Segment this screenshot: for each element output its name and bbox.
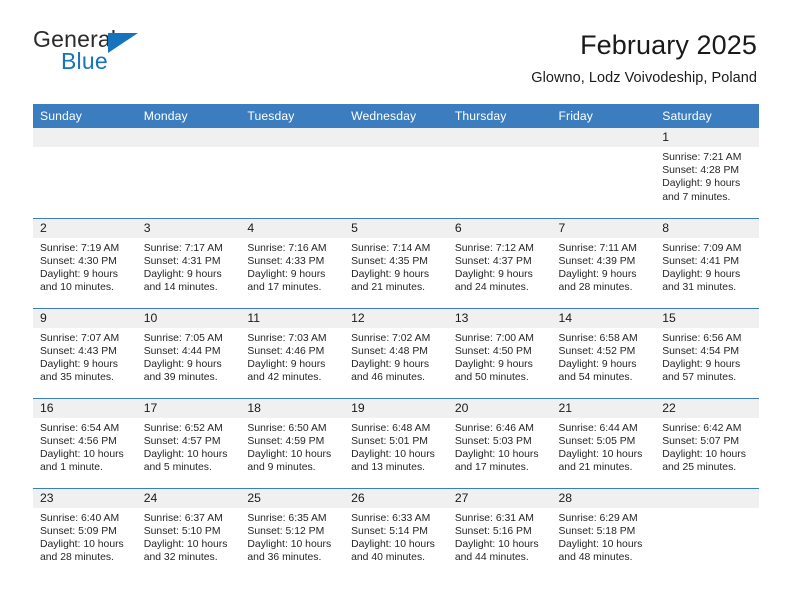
daylight-text-line2: and 46 minutes. <box>351 371 442 384</box>
day-details: Sunrise: 6:33 AM Sunset: 5:14 PM Dayligh… <box>344 508 448 565</box>
sunset-text: Sunset: 4:57 PM <box>144 435 235 448</box>
daylight-text-line1: Daylight: 10 hours <box>351 538 442 551</box>
daylight-text-line1: Daylight: 10 hours <box>662 448 753 461</box>
day-number <box>33 128 137 147</box>
sunrise-text: Sunrise: 6:54 AM <box>40 422 131 435</box>
day-cell[interactable]: 2 Sunrise: 7:19 AM Sunset: 4:30 PM Dayli… <box>33 218 137 308</box>
page-header: General Blue February 2025 Glowno, Lodz … <box>0 0 792 86</box>
day-number: 15 <box>655 309 759 328</box>
sunset-text: Sunset: 4:59 PM <box>247 435 338 448</box>
day-cell <box>33 128 137 218</box>
sunset-text: Sunset: 5:07 PM <box>662 435 753 448</box>
day-details: Sunrise: 6:56 AM Sunset: 4:54 PM Dayligh… <box>655 328 759 385</box>
sunset-text: Sunset: 5:18 PM <box>559 525 650 538</box>
daylight-text-line2: and 17 minutes. <box>455 461 546 474</box>
day-number <box>552 128 656 147</box>
daylight-text-line1: Daylight: 9 hours <box>559 358 650 371</box>
sunrise-text: Sunrise: 7:21 AM <box>662 151 753 164</box>
daylight-text-line2: and 7 minutes. <box>662 191 753 204</box>
day-cell[interactable]: 25 Sunrise: 6:35 AM Sunset: 5:12 PM Dayl… <box>240 488 344 578</box>
day-details: Sunrise: 6:54 AM Sunset: 4:56 PM Dayligh… <box>33 418 137 475</box>
weekday-header-wednesday: Wednesday <box>344 104 448 128</box>
daylight-text-line1: Daylight: 9 hours <box>351 358 442 371</box>
day-cell <box>240 128 344 218</box>
daylight-text-line1: Daylight: 9 hours <box>662 358 753 371</box>
sunrise-text: Sunrise: 7:12 AM <box>455 242 546 255</box>
day-details: Sunrise: 7:00 AM Sunset: 4:50 PM Dayligh… <box>448 328 552 385</box>
day-cell[interactable]: 18 Sunrise: 6:50 AM Sunset: 4:59 PM Dayl… <box>240 398 344 488</box>
sunset-text: Sunset: 4:43 PM <box>40 345 131 358</box>
day-cell[interactable]: 19 Sunrise: 6:48 AM Sunset: 5:01 PM Dayl… <box>344 398 448 488</box>
day-number: 8 <box>655 219 759 238</box>
day-number: 7 <box>552 219 656 238</box>
sunset-text: Sunset: 5:05 PM <box>559 435 650 448</box>
day-cell[interactable]: 3 Sunrise: 7:17 AM Sunset: 4:31 PM Dayli… <box>137 218 241 308</box>
day-cell <box>655 488 759 578</box>
calendar-week-row: 16 Sunrise: 6:54 AM Sunset: 4:56 PM Dayl… <box>33 398 759 488</box>
day-number: 17 <box>137 399 241 418</box>
day-cell[interactable]: 12 Sunrise: 7:02 AM Sunset: 4:48 PM Dayl… <box>344 308 448 398</box>
day-cell <box>552 128 656 218</box>
daylight-text-line2: and 21 minutes. <box>351 281 442 294</box>
sunset-text: Sunset: 4:33 PM <box>247 255 338 268</box>
sunset-text: Sunset: 4:54 PM <box>662 345 753 358</box>
sunrise-text: Sunrise: 6:50 AM <box>247 422 338 435</box>
sunset-text: Sunset: 5:01 PM <box>351 435 442 448</box>
sunrise-text: Sunrise: 6:31 AM <box>455 512 546 525</box>
day-details: Sunrise: 7:21 AM Sunset: 4:28 PM Dayligh… <box>655 147 759 204</box>
day-details: Sunrise: 6:50 AM Sunset: 4:59 PM Dayligh… <box>240 418 344 475</box>
daylight-text-line1: Daylight: 9 hours <box>662 268 753 281</box>
weekday-header-thursday: Thursday <box>448 104 552 128</box>
daylight-text-line2: and 10 minutes. <box>40 281 131 294</box>
daylight-text-line1: Daylight: 9 hours <box>455 268 546 281</box>
calendar-header-row: Sunday Monday Tuesday Wednesday Thursday… <box>33 104 759 128</box>
daylight-text-line2: and 5 minutes. <box>144 461 235 474</box>
sunset-text: Sunset: 5:09 PM <box>40 525 131 538</box>
sunset-text: Sunset: 4:35 PM <box>351 255 442 268</box>
day-details: Sunrise: 6:58 AM Sunset: 4:52 PM Dayligh… <box>552 328 656 385</box>
day-number: 24 <box>137 489 241 508</box>
sunrise-text: Sunrise: 7:02 AM <box>351 332 442 345</box>
logo-text-blue: Blue <box>61 50 108 73</box>
day-number: 2 <box>33 219 137 238</box>
day-number <box>655 489 759 508</box>
sunrise-text: Sunrise: 7:16 AM <box>247 242 338 255</box>
sunset-text: Sunset: 5:14 PM <box>351 525 442 538</box>
day-number: 1 <box>655 128 759 147</box>
daylight-text-line1: Daylight: 10 hours <box>247 538 338 551</box>
sunset-text: Sunset: 4:37 PM <box>455 255 546 268</box>
day-cell[interactable]: 9 Sunrise: 7:07 AM Sunset: 4:43 PM Dayli… <box>33 308 137 398</box>
brand-triangle-icon <box>108 33 138 53</box>
day-details: Sunrise: 7:02 AM Sunset: 4:48 PM Dayligh… <box>344 328 448 385</box>
daylight-text-line2: and 28 minutes. <box>40 551 131 564</box>
daylight-text-line1: Daylight: 10 hours <box>559 538 650 551</box>
calendar-week-row: 9 Sunrise: 7:07 AM Sunset: 4:43 PM Dayli… <box>33 308 759 398</box>
daylight-text-line1: Daylight: 9 hours <box>455 358 546 371</box>
sunset-text: Sunset: 4:46 PM <box>247 345 338 358</box>
day-cell <box>344 128 448 218</box>
day-number: 14 <box>552 309 656 328</box>
day-number: 25 <box>240 489 344 508</box>
general-blue-logo[interactable]: General Blue <box>33 28 153 80</box>
title-block: February 2025 Glowno, Lodz Voivodeship, … <box>531 28 757 86</box>
day-number <box>240 128 344 147</box>
sunrise-text: Sunrise: 6:48 AM <box>351 422 442 435</box>
daylight-text-line2: and 57 minutes. <box>662 371 753 384</box>
day-cell[interactable]: 6 Sunrise: 7:12 AM Sunset: 4:37 PM Dayli… <box>448 218 552 308</box>
day-details: Sunrise: 6:29 AM Sunset: 5:18 PM Dayligh… <box>552 508 656 565</box>
day-cell[interactable]: 1 Sunrise: 7:21 AM Sunset: 4:28 PM Dayli… <box>655 128 759 218</box>
page-title: February 2025 <box>531 30 757 61</box>
day-number: 26 <box>344 489 448 508</box>
sunrise-text: Sunrise: 6:33 AM <box>351 512 442 525</box>
sunrise-text: Sunrise: 7:07 AM <box>40 332 131 345</box>
sunrise-text: Sunrise: 6:44 AM <box>559 422 650 435</box>
day-details: Sunrise: 6:35 AM Sunset: 5:12 PM Dayligh… <box>240 508 344 565</box>
daylight-text-line1: Daylight: 9 hours <box>144 358 235 371</box>
weekday-header-saturday: Saturday <box>655 104 759 128</box>
sunrise-text: Sunrise: 7:14 AM <box>351 242 442 255</box>
daylight-text-line1: Daylight: 10 hours <box>455 448 546 461</box>
day-cell[interactable]: 17 Sunrise: 6:52 AM Sunset: 4:57 PM Dayl… <box>137 398 241 488</box>
sunrise-text: Sunrise: 6:40 AM <box>40 512 131 525</box>
daylight-text-line2: and 39 minutes. <box>144 371 235 384</box>
daylight-text-line2: and 44 minutes. <box>455 551 546 564</box>
day-number: 18 <box>240 399 344 418</box>
day-number: 6 <box>448 219 552 238</box>
daylight-text-line1: Daylight: 9 hours <box>559 268 650 281</box>
day-details: Sunrise: 6:48 AM Sunset: 5:01 PM Dayligh… <box>344 418 448 475</box>
day-details: Sunrise: 7:19 AM Sunset: 4:30 PM Dayligh… <box>33 238 137 295</box>
day-details: Sunrise: 7:09 AM Sunset: 4:41 PM Dayligh… <box>655 238 759 295</box>
daylight-text-line1: Daylight: 9 hours <box>662 177 753 190</box>
daylight-text-line2: and 21 minutes. <box>559 461 650 474</box>
day-number: 23 <box>33 489 137 508</box>
sunset-text: Sunset: 5:12 PM <box>247 525 338 538</box>
daylight-text-line1: Daylight: 10 hours <box>455 538 546 551</box>
day-cell[interactable]: 15 Sunrise: 6:56 AM Sunset: 4:54 PM Dayl… <box>655 308 759 398</box>
daylight-text-line2: and 13 minutes. <box>351 461 442 474</box>
daylight-text-line1: Daylight: 10 hours <box>144 538 235 551</box>
daylight-text-line1: Daylight: 10 hours <box>351 448 442 461</box>
day-number: 13 <box>448 309 552 328</box>
sunset-text: Sunset: 4:31 PM <box>144 255 235 268</box>
day-cell[interactable]: 10 Sunrise: 7:05 AM Sunset: 4:44 PM Dayl… <box>137 308 241 398</box>
day-number: 22 <box>655 399 759 418</box>
sunset-text: Sunset: 4:48 PM <box>351 345 442 358</box>
weekday-header-tuesday: Tuesday <box>240 104 344 128</box>
daylight-text-line2: and 25 minutes. <box>662 461 753 474</box>
day-number <box>137 128 241 147</box>
sunrise-text: Sunrise: 6:56 AM <box>662 332 753 345</box>
sunrise-text: Sunrise: 6:37 AM <box>144 512 235 525</box>
sunset-text: Sunset: 4:41 PM <box>662 255 753 268</box>
sunrise-text: Sunrise: 6:35 AM <box>247 512 338 525</box>
daylight-text-line2: and 28 minutes. <box>559 281 650 294</box>
sunrise-text: Sunrise: 6:29 AM <box>559 512 650 525</box>
day-details: Sunrise: 7:11 AM Sunset: 4:39 PM Dayligh… <box>552 238 656 295</box>
day-number: 5 <box>344 219 448 238</box>
day-details: Sunrise: 7:14 AM Sunset: 4:35 PM Dayligh… <box>344 238 448 295</box>
daylight-text-line1: Daylight: 9 hours <box>351 268 442 281</box>
weekday-header-friday: Friday <box>552 104 656 128</box>
day-cell[interactable]: 14 Sunrise: 6:58 AM Sunset: 4:52 PM Dayl… <box>552 308 656 398</box>
daylight-text-line2: and 32 minutes. <box>144 551 235 564</box>
weekday-header: Sunday Monday Tuesday Wednesday Thursday… <box>33 104 759 128</box>
day-number: 3 <box>137 219 241 238</box>
sunset-text: Sunset: 4:44 PM <box>144 345 235 358</box>
daylight-text-line1: Daylight: 9 hours <box>40 268 131 281</box>
day-number: 9 <box>33 309 137 328</box>
day-number: 21 <box>552 399 656 418</box>
sunrise-text: Sunrise: 7:19 AM <box>40 242 131 255</box>
daylight-text-line1: Daylight: 10 hours <box>144 448 235 461</box>
sunrise-text: Sunrise: 6:42 AM <box>662 422 753 435</box>
daylight-text-line1: Daylight: 10 hours <box>559 448 650 461</box>
day-details: Sunrise: 7:12 AM Sunset: 4:37 PM Dayligh… <box>448 238 552 295</box>
sunrise-text: Sunrise: 6:52 AM <box>144 422 235 435</box>
day-cell[interactable]: 4 Sunrise: 7:16 AM Sunset: 4:33 PM Dayli… <box>240 218 344 308</box>
sunrise-text: Sunrise: 6:46 AM <box>455 422 546 435</box>
day-details: Sunrise: 6:46 AM Sunset: 5:03 PM Dayligh… <box>448 418 552 475</box>
day-details: Sunrise: 7:05 AM Sunset: 4:44 PM Dayligh… <box>137 328 241 385</box>
daylight-text-line2: and 36 minutes. <box>247 551 338 564</box>
day-cell[interactable]: 7 Sunrise: 7:11 AM Sunset: 4:39 PM Dayli… <box>552 218 656 308</box>
day-cell <box>448 128 552 218</box>
day-cell[interactable]: 5 Sunrise: 7:14 AM Sunset: 4:35 PM Dayli… <box>344 218 448 308</box>
calendar-week-row: 23 Sunrise: 6:40 AM Sunset: 5:09 PM Dayl… <box>33 488 759 578</box>
day-number: 27 <box>448 489 552 508</box>
day-details: Sunrise: 6:44 AM Sunset: 5:05 PM Dayligh… <box>552 418 656 475</box>
sunrise-sunset-calendar: Sunday Monday Tuesday Wednesday Thursday… <box>33 104 759 578</box>
calendar-week-row: 1 Sunrise: 7:21 AM Sunset: 4:28 PM Dayli… <box>33 128 759 218</box>
sunrise-text: Sunrise: 6:58 AM <box>559 332 650 345</box>
sunset-text: Sunset: 4:28 PM <box>662 164 753 177</box>
sunset-text: Sunset: 5:16 PM <box>455 525 546 538</box>
day-cell[interactable]: 11 Sunrise: 7:03 AM Sunset: 4:46 PM Dayl… <box>240 308 344 398</box>
daylight-text-line1: Daylight: 9 hours <box>247 358 338 371</box>
sunset-text: Sunset: 4:52 PM <box>559 345 650 358</box>
daylight-text-line2: and 40 minutes. <box>351 551 442 564</box>
day-cell[interactable]: 26 Sunrise: 6:33 AM Sunset: 5:14 PM Dayl… <box>344 488 448 578</box>
sunset-text: Sunset: 4:56 PM <box>40 435 131 448</box>
day-number <box>448 128 552 147</box>
daylight-text-line2: and 1 minute. <box>40 461 131 474</box>
day-number: 20 <box>448 399 552 418</box>
calendar-body: 1 Sunrise: 7:21 AM Sunset: 4:28 PM Dayli… <box>33 128 759 578</box>
day-number: 19 <box>344 399 448 418</box>
sunrise-text: Sunrise: 7:00 AM <box>455 332 546 345</box>
sunrise-text: Sunrise: 7:03 AM <box>247 332 338 345</box>
daylight-text-line2: and 35 minutes. <box>40 371 131 384</box>
daylight-text-line2: and 42 minutes. <box>247 371 338 384</box>
day-cell[interactable]: 27 Sunrise: 6:31 AM Sunset: 5:16 PM Dayl… <box>448 488 552 578</box>
day-number: 28 <box>552 489 656 508</box>
sunrise-text: Sunrise: 7:05 AM <box>144 332 235 345</box>
calendar-week-row: 2 Sunrise: 7:19 AM Sunset: 4:30 PM Dayli… <box>33 218 759 308</box>
day-cell[interactable]: 16 Sunrise: 6:54 AM Sunset: 4:56 PM Dayl… <box>33 398 137 488</box>
day-details: Sunrise: 6:42 AM Sunset: 5:07 PM Dayligh… <box>655 418 759 475</box>
day-details: Sunrise: 7:03 AM Sunset: 4:46 PM Dayligh… <box>240 328 344 385</box>
day-details: Sunrise: 6:52 AM Sunset: 4:57 PM Dayligh… <box>137 418 241 475</box>
day-number: 10 <box>137 309 241 328</box>
day-number <box>344 128 448 147</box>
sunset-text: Sunset: 4:50 PM <box>455 345 546 358</box>
day-number: 16 <box>33 399 137 418</box>
daylight-text-line1: Daylight: 9 hours <box>247 268 338 281</box>
weekday-header-monday: Monday <box>137 104 241 128</box>
day-details: Sunrise: 7:07 AM Sunset: 4:43 PM Dayligh… <box>33 328 137 385</box>
day-cell[interactable]: 24 Sunrise: 6:37 AM Sunset: 5:10 PM Dayl… <box>137 488 241 578</box>
day-cell[interactable]: 21 Sunrise: 6:44 AM Sunset: 5:05 PM Dayl… <box>552 398 656 488</box>
day-cell[interactable]: 28 Sunrise: 6:29 AM Sunset: 5:18 PM Dayl… <box>552 488 656 578</box>
daylight-text-line1: Daylight: 10 hours <box>247 448 338 461</box>
day-number: 12 <box>344 309 448 328</box>
day-cell[interactable]: 23 Sunrise: 6:40 AM Sunset: 5:09 PM Dayl… <box>33 488 137 578</box>
daylight-text-line2: and 50 minutes. <box>455 371 546 384</box>
weekday-header-sunday: Sunday <box>33 104 137 128</box>
daylight-text-line2: and 31 minutes. <box>662 281 753 294</box>
day-details: Sunrise: 6:31 AM Sunset: 5:16 PM Dayligh… <box>448 508 552 565</box>
daylight-text-line2: and 9 minutes. <box>247 461 338 474</box>
day-number: 11 <box>240 309 344 328</box>
daylight-text-line2: and 17 minutes. <box>247 281 338 294</box>
sunset-text: Sunset: 4:30 PM <box>40 255 131 268</box>
day-cell <box>137 128 241 218</box>
calendar-page: General Blue February 2025 Glowno, Lodz … <box>0 0 792 612</box>
day-cell[interactable]: 22 Sunrise: 6:42 AM Sunset: 5:07 PM Dayl… <box>655 398 759 488</box>
sunset-text: Sunset: 4:39 PM <box>559 255 650 268</box>
day-number: 4 <box>240 219 344 238</box>
day-details: Sunrise: 7:16 AM Sunset: 4:33 PM Dayligh… <box>240 238 344 295</box>
sunrise-text: Sunrise: 7:17 AM <box>144 242 235 255</box>
daylight-text-line1: Daylight: 9 hours <box>144 268 235 281</box>
sunrise-text: Sunrise: 7:11 AM <box>559 242 650 255</box>
daylight-text-line1: Daylight: 10 hours <box>40 448 131 461</box>
sunrise-text: Sunrise: 7:09 AM <box>662 242 753 255</box>
sunset-text: Sunset: 5:03 PM <box>455 435 546 448</box>
daylight-text-line2: and 24 minutes. <box>455 281 546 294</box>
sunset-text: Sunset: 5:10 PM <box>144 525 235 538</box>
day-details: Sunrise: 6:37 AM Sunset: 5:10 PM Dayligh… <box>137 508 241 565</box>
day-details: Sunrise: 6:40 AM Sunset: 5:09 PM Dayligh… <box>33 508 137 565</box>
day-cell[interactable]: 20 Sunrise: 6:46 AM Sunset: 5:03 PM Dayl… <box>448 398 552 488</box>
daylight-text-line2: and 48 minutes. <box>559 551 650 564</box>
daylight-text-line2: and 14 minutes. <box>144 281 235 294</box>
daylight-text-line1: Daylight: 10 hours <box>40 538 131 551</box>
location-subtitle: Glowno, Lodz Voivodeship, Poland <box>531 70 757 86</box>
day-cell[interactable]: 13 Sunrise: 7:00 AM Sunset: 4:50 PM Dayl… <box>448 308 552 398</box>
day-details: Sunrise: 7:17 AM Sunset: 4:31 PM Dayligh… <box>137 238 241 295</box>
daylight-text-line1: Daylight: 9 hours <box>40 358 131 371</box>
day-cell[interactable]: 8 Sunrise: 7:09 AM Sunset: 4:41 PM Dayli… <box>655 218 759 308</box>
daylight-text-line2: and 54 minutes. <box>559 371 650 384</box>
